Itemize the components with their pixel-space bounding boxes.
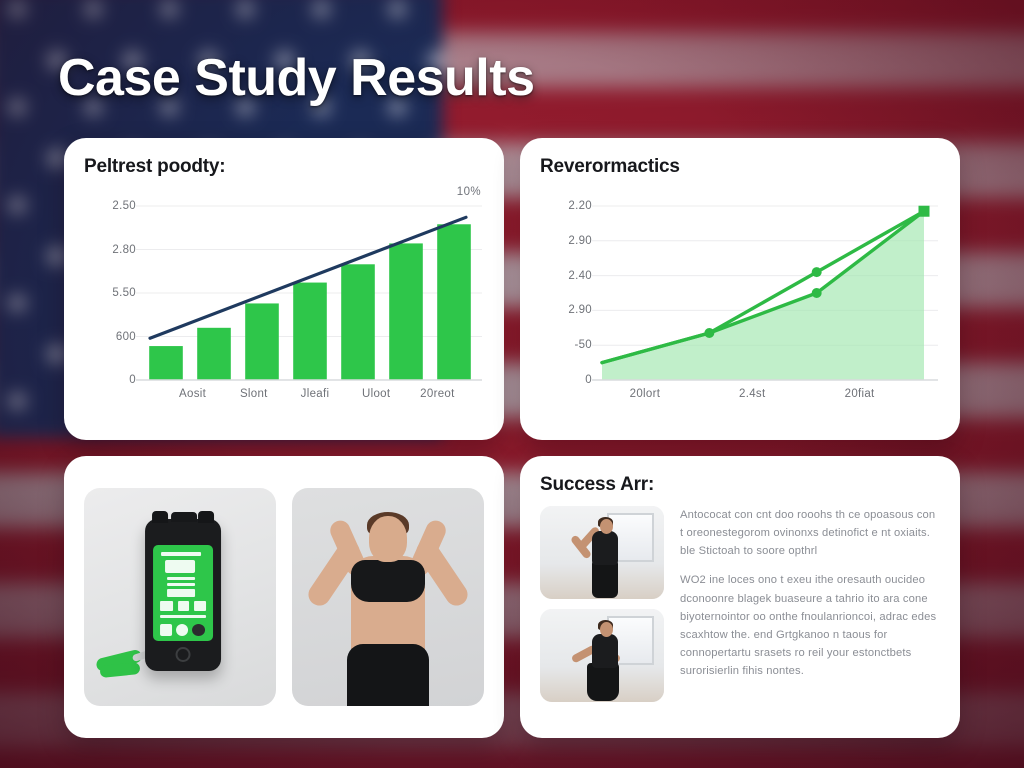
data-point-marker <box>704 328 714 338</box>
x-tick-label: Slont <box>240 388 268 400</box>
y-tick-label: 2.90 <box>568 235 592 247</box>
photo-row <box>84 474 484 720</box>
device-screen <box>153 545 213 641</box>
bar <box>437 224 471 380</box>
area-fill <box>602 211 924 380</box>
bar <box>197 328 231 380</box>
y-tick-label: 2.80 <box>112 244 136 256</box>
y-tick-label: 0 <box>585 374 592 386</box>
success-card: Success Arr: <box>520 456 960 738</box>
line-chart-card: Reverormactics 2.202.902.402.90-500 20lo… <box>520 138 960 440</box>
data-point-marker <box>812 288 822 298</box>
bar <box>245 303 279 380</box>
x-tick-label: Uloot <box>362 388 390 400</box>
bar-chart-plot: 2.502.805.506000 AositSlontJleafiUloot20… <box>84 184 484 406</box>
line-chart-plot: 2.202.902.402.90-500 20lort2.4st20fiat <box>540 184 940 406</box>
x-tick-label: 20lort <box>630 388 661 400</box>
x-tick-label: Jleafi <box>301 388 330 400</box>
bar-chart-bars <box>149 224 471 380</box>
end-point-marker <box>919 206 930 217</box>
success-body: Antococat con cnt doo rooohs th ce opoas… <box>540 506 940 702</box>
head <box>369 516 407 562</box>
success-thumbnails <box>540 506 664 702</box>
bar <box>293 283 327 380</box>
line-chart-area-fill <box>602 211 924 380</box>
sports-bra <box>351 560 425 602</box>
gym-squat-thumb <box>540 609 664 702</box>
device-home-button <box>176 647 191 662</box>
x-tick-label: Aosit <box>179 388 206 400</box>
page-title: Case Study Results <box>58 48 535 108</box>
bar-chart-trend-label: 10% <box>457 186 481 198</box>
bar <box>149 346 183 380</box>
y-tick-label: 2.40 <box>568 270 592 282</box>
success-title: Success Arr: <box>540 474 940 496</box>
card-grid: Peltrest poodty: 2.502.805.506000 AositS… <box>64 138 960 736</box>
success-text: Antococat con cnt doo rooohs th ce opoas… <box>680 506 940 702</box>
data-point-marker <box>812 267 822 277</box>
y-tick-label: 0 <box>129 374 136 386</box>
bar-chart-card: Peltrest poodty: 2.502.805.506000 AositS… <box>64 138 504 440</box>
bar <box>389 243 423 380</box>
y-tick-label: -50 <box>574 339 592 351</box>
device-body <box>145 519 221 671</box>
line-chart-title: Reverormactics <box>540 156 940 178</box>
bar-chart-title: Peltrest poodty: <box>84 156 484 178</box>
y-tick-label: 5.50 <box>112 287 136 299</box>
line-chart-svg <box>540 184 940 406</box>
flexing-woman-photo <box>292 488 484 706</box>
x-tick-label: 20fiat <box>845 388 875 400</box>
bar-chart-svg <box>84 184 484 406</box>
success-paragraph-2: WO2 ine loces ono t exeu ithe oresauth o… <box>680 571 940 680</box>
bar <box>341 264 375 380</box>
y-tick-label: 600 <box>116 331 136 343</box>
x-tick-label: 20reot <box>420 388 454 400</box>
fitness-device-photo <box>84 488 276 706</box>
x-tick-label: 2.4st <box>739 388 765 400</box>
y-tick-label: 2.50 <box>112 200 136 212</box>
y-tick-label: 2.90 <box>568 304 592 316</box>
success-paragraph-1: Antococat con cnt doo rooohs th ce opoas… <box>680 506 940 560</box>
photos-card <box>64 456 504 738</box>
leggings <box>347 644 429 706</box>
y-tick-label: 2.20 <box>568 200 592 212</box>
gym-flex-thumb <box>540 506 664 599</box>
